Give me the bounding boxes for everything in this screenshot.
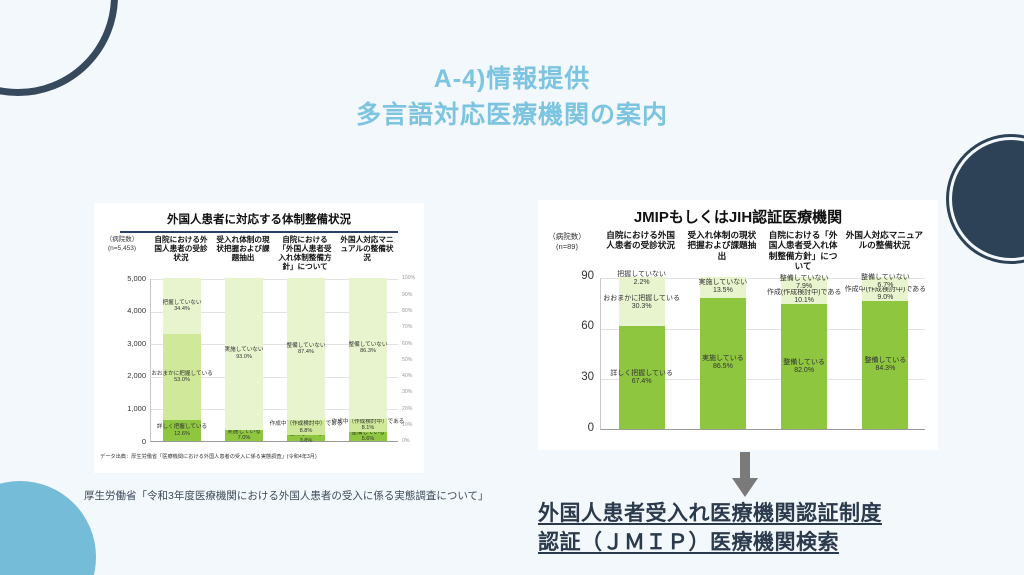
bar-column-1: 詳しく把握している67.4%おおまかに把握している30.3%把握していない2.2… <box>619 277 665 429</box>
segment-label-4-3: 整備していない86.3% <box>349 342 388 355</box>
axis-sample-label: (n=89) <box>538 242 596 252</box>
title-line-1: A-4)情報提供 <box>0 62 1024 98</box>
category-header-3: 自院における「外国人患者受入れ体制整備方針」について <box>763 230 844 271</box>
right-tick-30%: 30% <box>402 389 412 395</box>
chart-title-rule <box>120 231 398 233</box>
bar-segment-1-3: 把握していない2.2% <box>619 277 665 280</box>
segment-label-3-3: 整備していない87.4% <box>287 343 326 356</box>
category-header-2: 受入れ体制の現状把握および課題抽出 <box>681 230 762 271</box>
segment-label-value: 12.6% <box>157 431 207 437</box>
segment-label-2-1: 実施している86.5% <box>702 355 744 371</box>
segment-label-text: 詳しく把握している <box>610 370 673 378</box>
segment-label-3-3: 整備していない7.9% <box>780 275 829 291</box>
bar-segment-1-2: おおまかに把握している30.3% <box>619 280 665 326</box>
bar-segment-4-2: 作成中（作成検討中）である8.1% <box>349 419 387 432</box>
y-tick-60: 60 <box>548 320 594 332</box>
bar-column-3: 整備している3.8%作成中（作成検討中）である8.8%整備していない87.4% <box>287 278 325 441</box>
segment-label-value: 9.0% <box>845 294 927 302</box>
y-tick-3,000: 3,000 <box>100 339 146 348</box>
bar-segment-1-1: 詳しく把握している12.6% <box>163 420 201 441</box>
y-tick-1,000: 1,000 <box>100 404 146 413</box>
category-header-4: 外国人対応マニュアルの整備状況 <box>844 230 925 271</box>
segment-label-text: おおまかに把握している <box>603 295 680 303</box>
bar-segment-1-3: 把握していない34.4% <box>163 278 201 334</box>
segment-label-4-2: 作成中（作成検討中）である8.1% <box>332 419 405 432</box>
jmip-search-link[interactable]: 外国人患者受入れ医療機関認証制度 認証（ＪＭＩＰ）医療機関検索 <box>538 500 882 558</box>
segment-label-value: 84.3% <box>864 365 906 373</box>
axis-unit-caption: （病院数）(n=89) <box>538 232 596 252</box>
category-header-3: 自院における「外国人患者受入れ体制整備方針」について <box>274 235 336 271</box>
bar-segment-3-2: 作成(作成検討中)である10.1% <box>781 289 827 304</box>
bar-segment-4-1: 整備している5.6% <box>349 432 387 441</box>
source-note: データ出典：厚生労働省「医療機関における外国人患者の受入に係る実態調査」(令和4… <box>100 453 317 460</box>
bar-segment-2-1: 実施している86.5% <box>700 298 746 429</box>
bar-column-2: 実施している86.5%実施していない13.5% <box>700 277 746 429</box>
segment-label-2-1: 実施している7.0% <box>227 429 260 442</box>
right-tick-80%: 80% <box>402 308 412 314</box>
title-line-2: 多言語対応医療機関の案内 <box>0 98 1024 134</box>
segment-label-4-1: 整備している84.3% <box>864 357 906 373</box>
y-tick-90: 90 <box>548 270 594 282</box>
plot-area: 詳しく把握している12.6%おおまかに把握している53.0%把握していない34.… <box>150 279 398 442</box>
right-tick-20%: 20% <box>402 406 412 412</box>
y-tick-0: 0 <box>100 437 146 446</box>
segment-label-text: 把握していない <box>617 271 666 279</box>
segment-label-value: 93.0% <box>225 354 264 360</box>
axis-unit-label: （病院数） <box>538 232 596 242</box>
bar-segment-3-3: 整備していない87.4% <box>287 278 325 420</box>
segment-label-2-2: 実施していない93.0% <box>225 347 264 360</box>
bar-segment-3-3: 整備していない7.9% <box>781 277 827 289</box>
segment-label-value: 8.1% <box>332 425 405 431</box>
circle-right-decoration <box>952 140 1024 258</box>
bar-segment-4-3: 整備していない6.7% <box>862 277 908 287</box>
category-headers: 自院における外国人患者の受診状況受入れ体制の現状把握および課題抽出自院における「… <box>150 235 398 271</box>
axis-sample-label: (n=5,453) <box>96 245 148 254</box>
chart-title: 外国人患者に対応する体制整備状況 <box>94 211 424 227</box>
y-tick-0: 0 <box>548 422 594 434</box>
segment-label-value: 10.1% <box>767 297 842 305</box>
segment-label-value: 7.0% <box>227 435 260 441</box>
bar-segment-2-2: 実施していない93.0% <box>225 278 263 430</box>
left-chart-caption: 厚生労働省「令和3年度医療機関における外国人患者の受入に係る実態調査について」 <box>84 488 489 503</box>
segment-label-1-2: おおまかに把握している30.3% <box>603 295 680 311</box>
bar-segment-4-1: 整備している84.3% <box>862 301 908 429</box>
segment-label-value: 87.4% <box>287 349 326 355</box>
y-tick-5,000: 5,000 <box>100 274 146 283</box>
segment-label-text: 整備していない <box>780 275 829 283</box>
down-arrow-icon <box>731 452 759 498</box>
segment-label-1-3: 把握していない34.4% <box>163 300 202 313</box>
segment-label-value: 7.9% <box>780 283 829 291</box>
segment-label-value: 67.4% <box>610 378 673 386</box>
right-tick-100%: 100% <box>402 275 415 281</box>
segment-label-value: 30.3% <box>603 303 680 311</box>
segment-label-value: 86.3% <box>349 348 388 354</box>
bar-segment-3-1: 整備している82.0% <box>781 304 827 429</box>
axis-unit-caption: （病院数）(n=5,453) <box>96 236 148 254</box>
segment-label-3-1: 整備している82.0% <box>783 359 825 375</box>
link-line-1[interactable]: 外国人患者受入れ医療機関認証制度 <box>538 502 882 525</box>
bar-segment-3-1: 整備している3.8% <box>287 435 325 441</box>
y-tick-30: 30 <box>548 371 594 383</box>
segment-label-value: 86.5% <box>702 363 744 371</box>
segment-label-text: 実施していない <box>698 279 747 287</box>
plot-area: 詳しく把握している67.4%おおまかに把握している30.3%把握していない2.2… <box>600 278 925 430</box>
category-header-1: 自院における外国人患者の受診状況 <box>600 230 681 271</box>
segment-label-text: 整備している <box>864 357 906 365</box>
right-tick-0%: 0% <box>402 438 410 444</box>
segment-label-1-1: 詳しく把握している67.4% <box>610 370 673 386</box>
category-header-1: 自院における外国人患者の受診状況 <box>150 235 212 271</box>
segment-label-1-3: 把握していない2.2% <box>617 271 666 287</box>
segment-label-value: 6.7% <box>861 282 910 290</box>
segment-label-4-3: 整備していない6.7% <box>861 274 910 290</box>
y-tick-2,000: 2,000 <box>100 371 146 380</box>
bar-segment-3-2: 作成中（作成検討中）である8.8% <box>287 420 325 434</box>
segment-label-1-2: おおまかに把握している53.0% <box>151 371 212 384</box>
right-tick-70%: 70% <box>402 324 412 330</box>
segment-label-value: 13.5% <box>698 287 747 295</box>
left-chart-panel: 外国人患者に対応する体制整備状況（病院数）(n=5,453)自院における外国人患… <box>94 203 424 473</box>
bar-segment-4-3: 整備していない86.3% <box>349 278 387 419</box>
segment-label-4-1: 整備している5.6% <box>351 430 384 443</box>
ring-right-decoration <box>946 134 1024 264</box>
bar-column-2: 実施している7.0%実施していない93.0% <box>225 278 263 441</box>
bar-segment-1-1: 詳しく把握している67.4% <box>619 326 665 429</box>
right-tick-40%: 40% <box>402 373 412 379</box>
y-tick-4,000: 4,000 <box>100 306 146 315</box>
bar-segment-1-2: おおまかに把握している53.0% <box>163 334 201 420</box>
bar-column-4: 整備している84.3%作成中(作成検討中)である9.0%整備していない6.7% <box>862 277 908 429</box>
right-tick-90%: 90% <box>402 292 412 298</box>
right-tick-50%: 50% <box>402 357 412 363</box>
category-header-2: 受入れ体制の現状把握および課題抽出 <box>212 235 274 271</box>
segment-label-value: 2.2% <box>617 279 666 287</box>
right-tick-60%: 60% <box>402 341 412 347</box>
segment-label-1-1: 詳しく把握している12.6% <box>157 424 207 437</box>
axis-unit-label: （病院数） <box>96 236 148 245</box>
segment-label-text: 整備している <box>783 359 825 367</box>
category-header-4: 外国人対応マニュアルの整備状況 <box>336 235 398 271</box>
segment-label-value: 53.0% <box>151 377 212 383</box>
segment-label-2-2: 実施していない13.5% <box>698 279 747 295</box>
page-title: A-4)情報提供 多言語対応医療機関の案内 <box>0 62 1024 133</box>
segment-label-text: 実施している <box>702 355 744 363</box>
segment-label-value: 3.8% <box>289 438 322 444</box>
bar-segment-2-2: 実施していない13.5% <box>700 277 746 298</box>
link-line-2[interactable]: 認証（ＪＭＩＰ）医療機関検索 <box>538 531 839 554</box>
segment-label-value: 34.4% <box>163 306 202 312</box>
bar-segment-2-1: 実施している7.0% <box>225 430 263 441</box>
bar-column-3: 整備している82.0%作成(作成検討中)である10.1%整備していない7.9% <box>781 277 827 429</box>
category-headers: 自院における外国人患者の受診状況受入れ体制の現状把握および課題抽出自院における「… <box>600 230 925 271</box>
right-chart-panel: JMIPもしくはJIH認証医療機関（病院数）(n=89)自院における外国人患者の… <box>538 200 938 450</box>
bar-column-4: 整備している5.6%作成中（作成検討中）である8.1%整備していない86.3% <box>349 278 387 441</box>
circle-bottom-left-decoration <box>0 481 96 575</box>
segment-label-text: 整備していない <box>861 274 910 282</box>
bar-column-1: 詳しく把握している12.6%おおまかに把握している53.0%把握していない34.… <box>163 278 201 441</box>
segment-label-value: 82.0% <box>783 367 825 375</box>
segment-label-value: 5.6% <box>351 436 384 442</box>
chart-title: JMIPもしくはJIH認証医療機関 <box>538 206 938 227</box>
